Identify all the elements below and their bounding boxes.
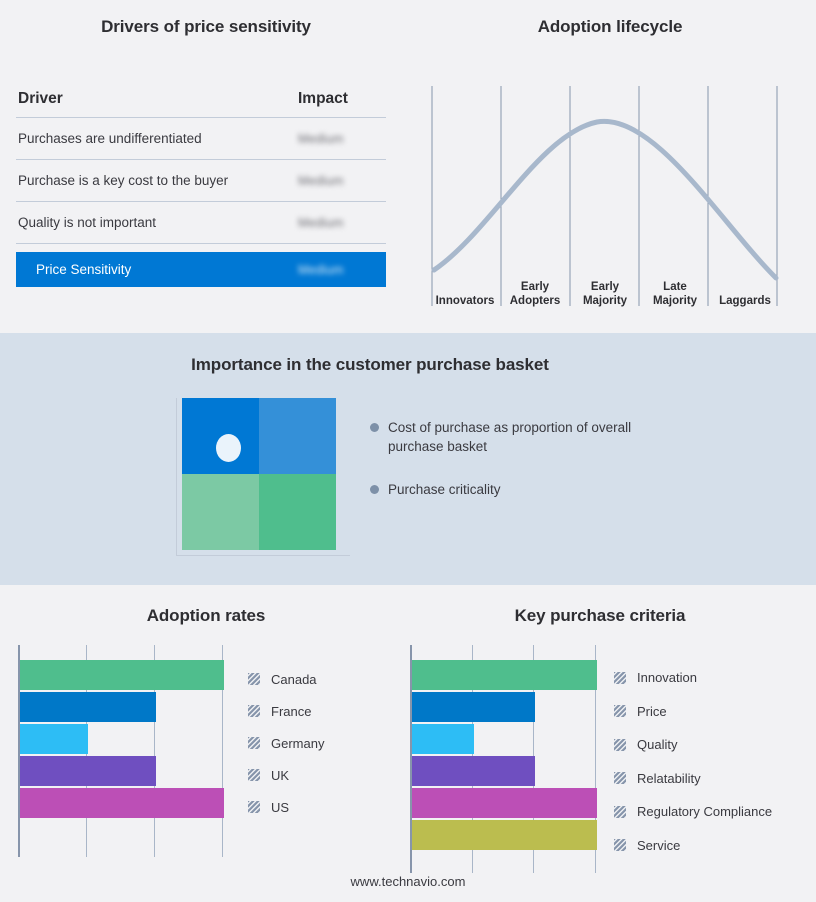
driver-label: Purchases are undifferentiated <box>18 131 298 146</box>
basket-legend: Cost of purchase as proportion of overal… <box>370 418 660 523</box>
list-item: Cost of purchase as proportion of overal… <box>370 418 660 456</box>
stage-label-line1: Early <box>500 280 570 294</box>
legend-label: Germany <box>271 736 324 751</box>
driver-label: Quality is not important <box>18 215 298 230</box>
legend-label: Canada <box>271 672 317 687</box>
row-divider <box>16 243 386 244</box>
legend-label: US <box>271 800 289 815</box>
impact-value-obscured: Medium <box>298 174 344 188</box>
drivers-table: Driver Impact Purchases are undifferenti… <box>16 90 386 287</box>
key-purchase-criteria-chart: InnovationPriceQualityRelatabilityRegula… <box>410 645 810 875</box>
legend-item[interactable]: France <box>248 695 324 727</box>
stage-label-late-majority: Late Majority <box>640 264 710 310</box>
legend-item[interactable]: Germany <box>248 727 324 759</box>
stage-label-line2: Laggards <box>710 294 780 308</box>
impact-value-obscured: Medium <box>298 132 344 146</box>
legend-item[interactable]: Innovation <box>614 661 772 695</box>
adoption-rates-plot-area <box>18 645 222 857</box>
impact-value-obscured: Medium <box>298 263 344 277</box>
legend-label: Quality <box>637 737 677 752</box>
legend-label: UK <box>271 768 289 783</box>
bullet-dot-icon <box>370 423 379 432</box>
impact-value-cell: Medium <box>298 261 384 279</box>
stage-label-line2: Majority <box>570 294 640 308</box>
impact-value-cell: Medium <box>298 130 384 148</box>
bar-germany[interactable] <box>20 724 88 754</box>
legend-item[interactable]: Quality <box>614 728 772 762</box>
legend-label: Regulatory Compliance <box>637 804 772 819</box>
key-criteria-title: Key purchase criteria <box>410 606 790 626</box>
quadrant-x-axis <box>176 555 350 556</box>
bar-regulatory-compliance[interactable] <box>412 788 597 818</box>
lifecycle-panel-title: Adoption lifecycle <box>420 17 800 37</box>
stage-label-early-majority: Early Majority <box>570 264 640 310</box>
stage-label-innovators: Innovators <box>430 264 500 310</box>
driver-label: Purchase is a key cost to the buyer <box>18 173 298 188</box>
table-row[interactable]: Purchases are undifferentiated Medium <box>16 118 386 159</box>
drivers-table-header: Driver Impact <box>16 90 386 117</box>
key-criteria-plot-area <box>410 645 595 873</box>
position-marker-icon <box>216 434 241 462</box>
legend-item[interactable]: UK <box>248 759 324 791</box>
legend-swatch-icon <box>248 673 260 685</box>
legend-item[interactable]: Service <box>614 829 772 863</box>
adoption-rates-legend: CanadaFranceGermanyUKUS <box>248 663 324 823</box>
legend-item[interactable]: US <box>248 791 324 823</box>
quadrant-bottom-right[interactable] <box>259 474 336 550</box>
legend-label: Price <box>637 704 667 719</box>
column-header-driver: Driver <box>18 90 298 108</box>
impact-value-cell: Medium <box>298 214 384 232</box>
table-row-highlighted-price-sensitivity[interactable]: Price Sensitivity Medium <box>16 252 386 287</box>
basket-legend-label: Purchase criticality <box>388 480 501 499</box>
impact-value-cell: Medium <box>298 172 384 190</box>
bar-relatability[interactable] <box>412 756 535 786</box>
stage-label-line1: Early <box>570 280 640 294</box>
legend-label: Innovation <box>637 670 697 685</box>
table-row[interactable]: Purchase is a key cost to the buyer Medi… <box>16 160 386 201</box>
legend-item[interactable]: Regulatory Compliance <box>614 795 772 829</box>
bullet-dot-icon <box>370 485 379 494</box>
list-item: Purchase criticality <box>370 480 660 499</box>
legend-item[interactable]: Price <box>614 695 772 729</box>
stage-label-line2: Adopters <box>500 294 570 308</box>
driver-label: Price Sensitivity <box>36 262 298 277</box>
legend-label: France <box>271 704 311 719</box>
quadrant-y-axis <box>176 398 177 556</box>
stage-label-line2: Majority <box>640 294 710 308</box>
stage-label-line2: Innovators <box>430 294 500 308</box>
quadrant-bottom-left[interactable] <box>182 474 259 550</box>
bar-quality[interactable] <box>412 724 474 754</box>
footer-url: www.technavio.com <box>0 874 816 889</box>
bar-price[interactable] <box>412 692 535 722</box>
bar-service[interactable] <box>412 820 597 850</box>
legend-swatch-icon <box>248 705 260 717</box>
adoption-rates-chart: CanadaFranceGermanyUKUS <box>18 645 388 860</box>
key-criteria-legend: InnovationPriceQualityRelatabilityRegula… <box>614 661 772 862</box>
legend-swatch-icon <box>248 801 260 813</box>
purchase-basket-quadrant-chart <box>176 398 336 556</box>
bar-us[interactable] <box>20 788 224 818</box>
column-header-impact: Impact <box>298 90 384 108</box>
adoption-rates-title: Adoption rates <box>16 606 396 626</box>
drivers-panel-title: Drivers of price sensitivity <box>16 17 396 37</box>
table-row[interactable]: Quality is not important Medium <box>16 202 386 243</box>
adoption-lifecycle-chart: Innovators Early Adopters Early Majority… <box>430 82 780 310</box>
stage-label-early-adopters: Early Adopters <box>500 264 570 310</box>
legend-swatch-icon <box>248 737 260 749</box>
legend-swatch-icon <box>614 705 626 717</box>
legend-item[interactable]: Relatability <box>614 762 772 796</box>
legend-swatch-icon <box>614 839 626 851</box>
bar-innovation[interactable] <box>412 660 597 690</box>
legend-swatch-icon <box>614 772 626 784</box>
bar-canada[interactable] <box>20 660 224 690</box>
bar-uk[interactable] <box>20 756 156 786</box>
stage-label-laggards: Laggards <box>710 264 780 310</box>
basket-panel-title: Importance in the customer purchase bask… <box>0 355 740 375</box>
legend-swatch-icon <box>614 806 626 818</box>
infographic-page: Drivers of price sensitivity Driver Impa… <box>0 0 816 902</box>
impact-value-obscured: Medium <box>298 216 344 230</box>
bar-france[interactable] <box>20 692 156 722</box>
basket-legend-label: Cost of purchase as proportion of overal… <box>388 418 660 456</box>
quadrant-grid <box>182 398 336 550</box>
stage-label-line1: Late <box>640 280 710 294</box>
legend-label: Service <box>637 838 680 853</box>
legend-item[interactable]: Canada <box>248 663 324 695</box>
legend-swatch-icon <box>614 672 626 684</box>
quadrant-top-right[interactable] <box>259 398 336 474</box>
lifecycle-stage-labels: Innovators Early Adopters Early Majority… <box>430 264 780 310</box>
legend-swatch-icon <box>614 739 626 751</box>
legend-label: Relatability <box>637 771 701 786</box>
bell-curve-path <box>434 121 776 278</box>
legend-swatch-icon <box>248 769 260 781</box>
